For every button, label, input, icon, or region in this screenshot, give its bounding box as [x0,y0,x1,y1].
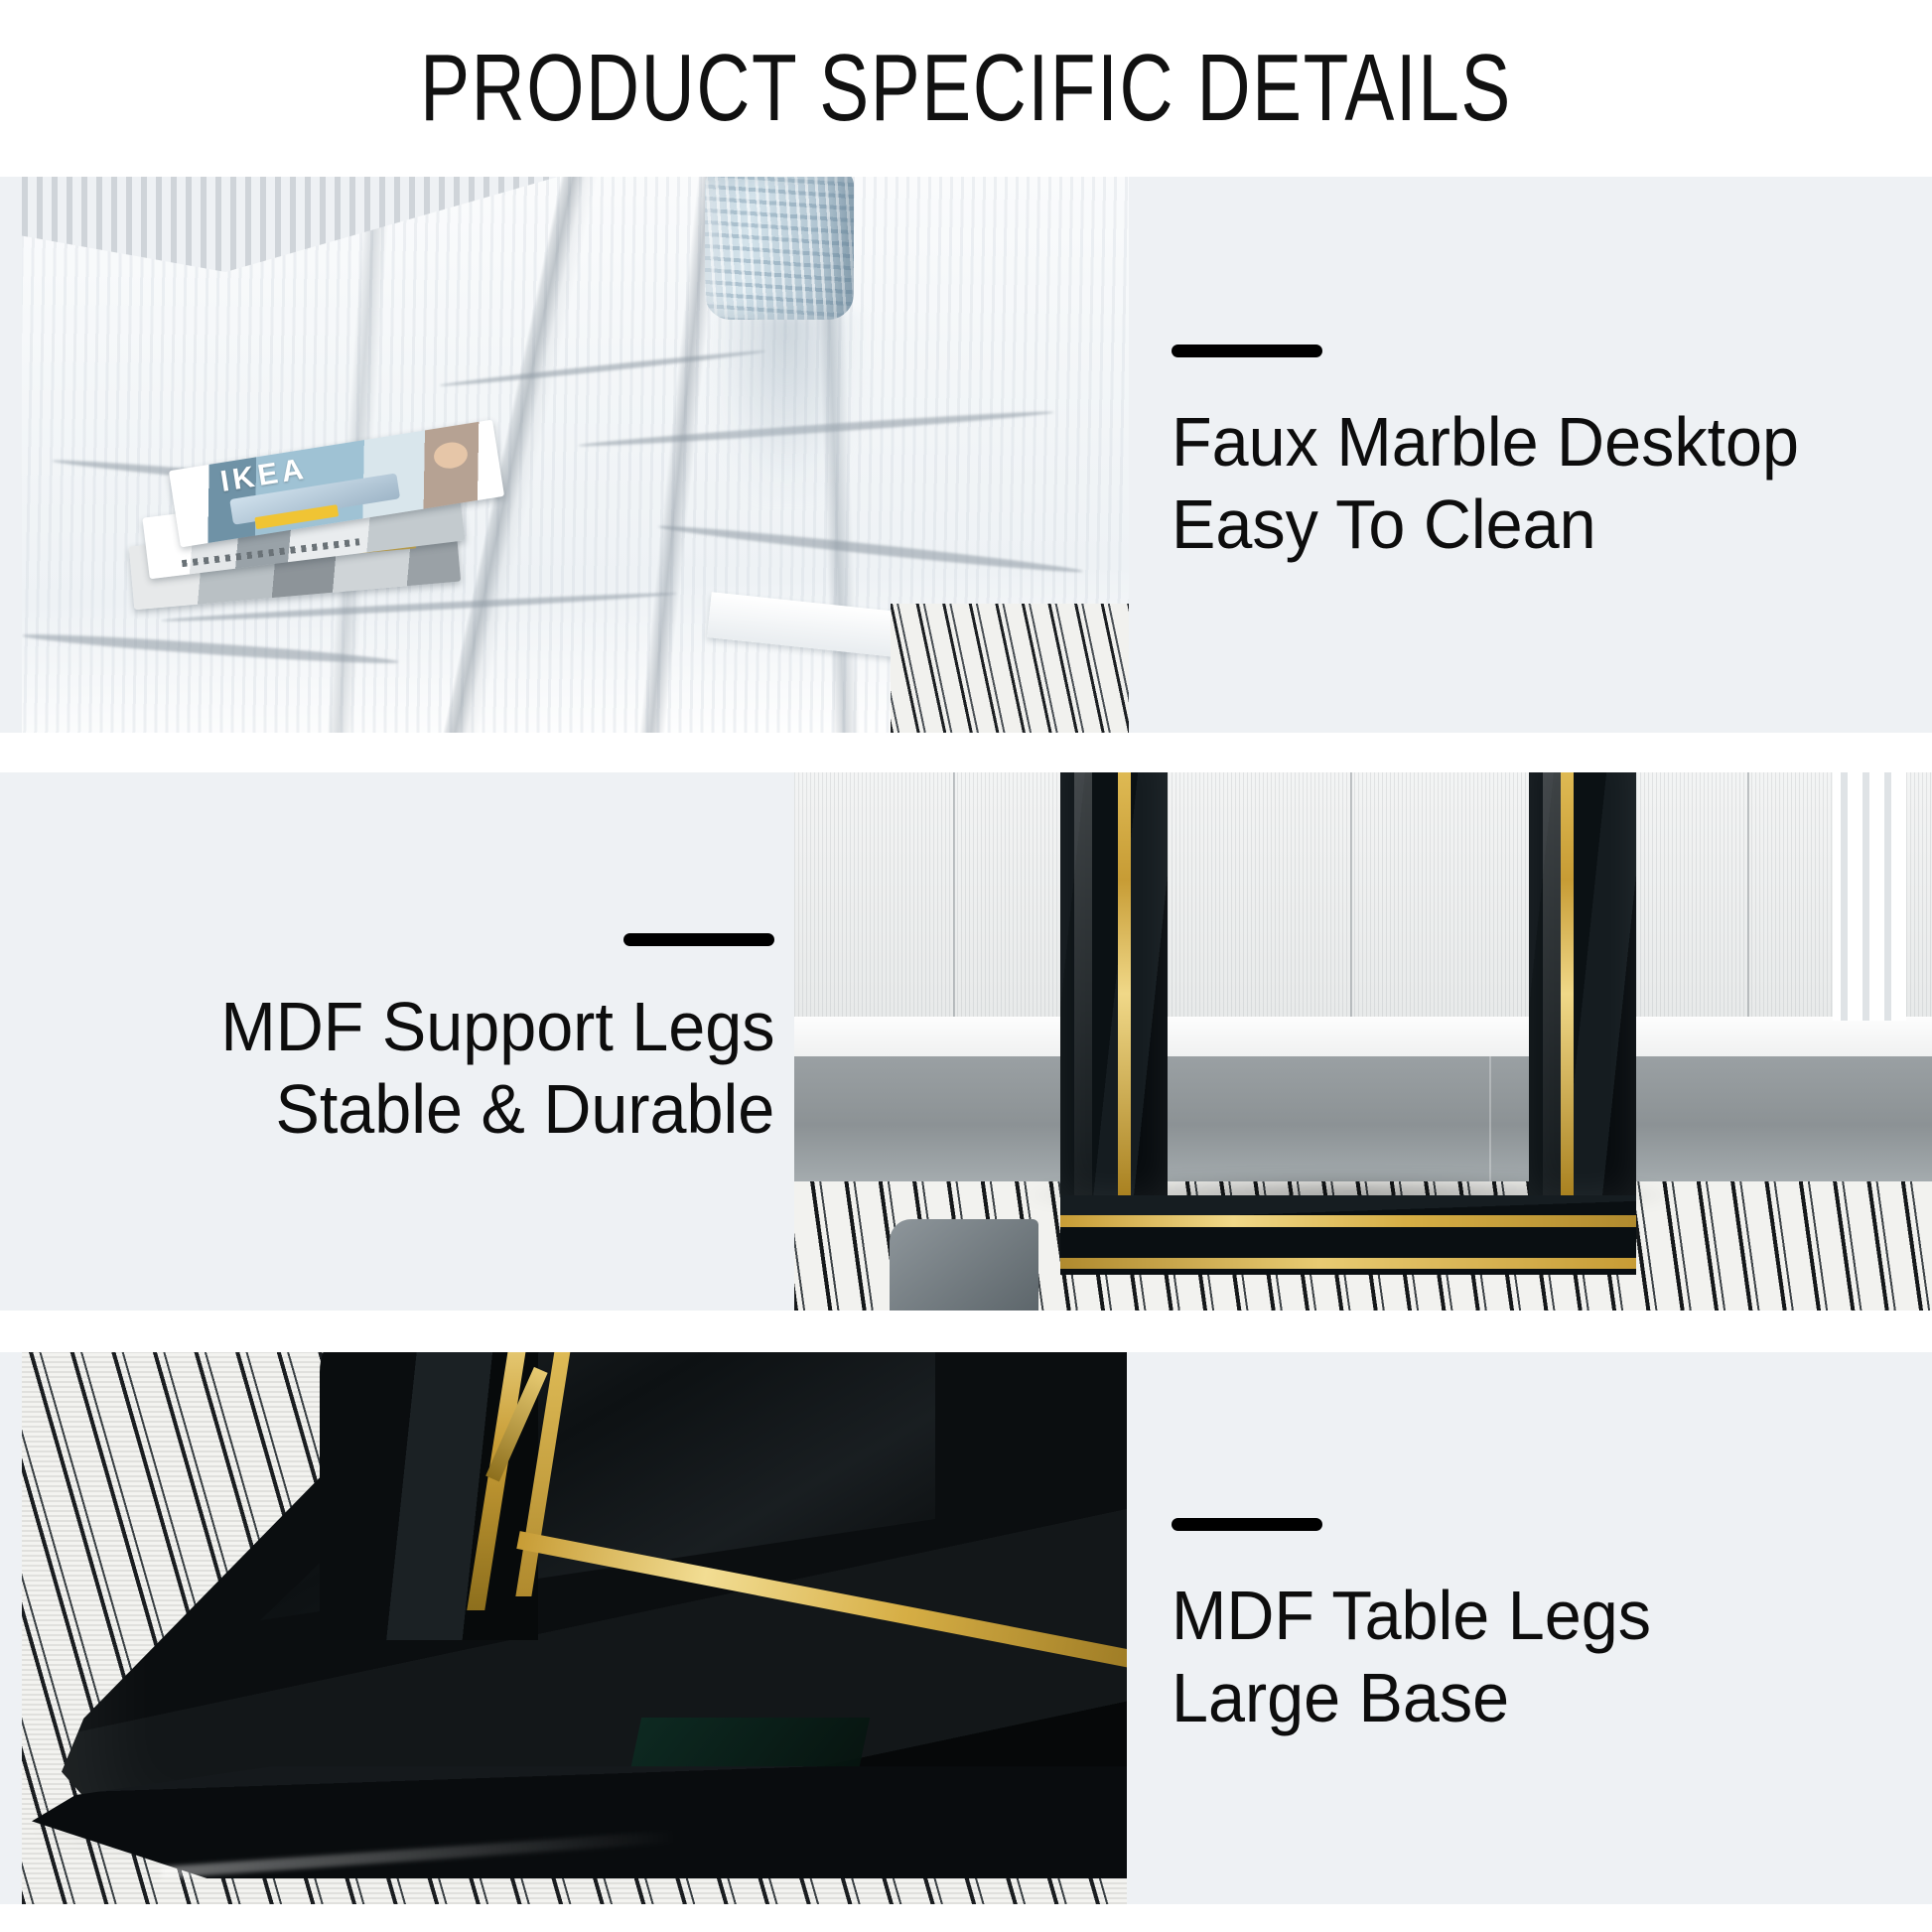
detail-caption-mdf-support-legs: MDF Support Legs Stable & Durable [139,772,774,1311]
caption-line-2: Easy To Clean [1172,483,1596,566]
caption-line-1: MDF Support Legs [220,986,774,1068]
gold-trim [1118,772,1131,1199]
caption-line-1: Faux Marble Desktop [1172,401,1799,483]
caption-rule [1172,345,1322,357]
page-title: PRODUCT SPECIFIC DETAILS [420,41,1512,136]
support-leg-left [1060,772,1168,1199]
marble-vein [22,630,399,667]
ceiling-slat-graphic [22,177,558,272]
tile-floor [794,1056,1932,1181]
leg-highlight [1543,772,1561,1199]
magazine-stack: IKEA [121,425,488,623]
product-photo-mdf-table-legs [22,1352,1127,1904]
marble-vein [658,522,1084,577]
detail-section-mdf-support-legs: MDF Support Legs Stable & Durable [0,772,1932,1311]
wall-seam [953,772,955,1017]
ceramic-vase [705,177,854,320]
product-photo-faux-marble-desktop: IKEA [22,177,1129,733]
detail-section-mdf-table-legs: MDF Table Legs Large Base [0,1352,1932,1904]
gold-trim [1060,1258,1636,1269]
caption-line-1: MDF Table Legs [1172,1575,1651,1657]
support-leg-graphic [794,772,1932,1311]
wall-seam [1747,772,1749,1017]
chair-edge [890,1219,1038,1311]
caption-line-2: Stable & Durable [275,1068,774,1151]
caption-rule [623,933,774,946]
gold-trim [1561,772,1574,1199]
leg-crossbar [1060,1195,1636,1275]
page-header: PRODUCT SPECIFIC DETAILS [0,0,1932,177]
support-leg-right [1529,772,1636,1199]
baseboard [794,1017,1932,1058]
product-photo-mdf-support-legs [794,772,1932,1311]
vase-reflection [707,312,866,500]
caption-line-2: Large Base [1172,1657,1509,1739]
detail-caption-mdf-table-legs: MDF Table Legs Large Base [1172,1352,1886,1904]
caption-rule [1172,1518,1322,1531]
tile-seam [1489,1056,1491,1181]
wall-seam [1350,772,1352,1017]
textured-wall [794,772,1932,1017]
marble-surface-graphic: IKEA [22,177,1129,733]
striped-rug [891,604,1129,733]
table-base-graphic [22,1352,1127,1904]
magazine-circle-graphic [432,440,470,471]
gold-trim [1060,1215,1636,1227]
curtain [1833,772,1906,1021]
detail-caption-faux-marble-desktop: Faux Marble Desktop Easy To Clean [1172,177,1886,733]
leg-highlight [1074,772,1092,1199]
detail-section-faux-marble-desktop: IKEA Faux Marble Desktop Easy To Clean [0,177,1932,733]
